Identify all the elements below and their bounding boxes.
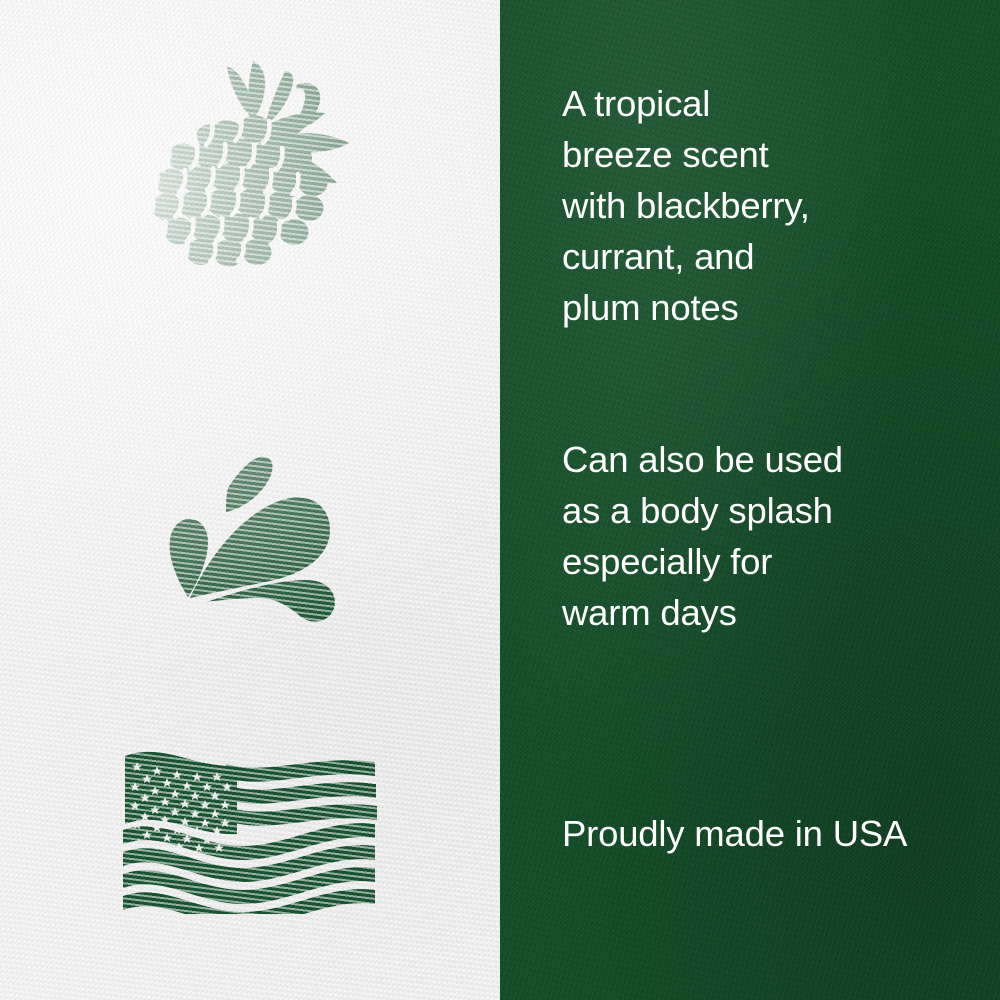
feature-text-body-splash: Can also be used as a body splash especi… (562, 434, 992, 638)
icon-panel (0, 0, 500, 1000)
usa-flag-icon-slot (0, 735, 500, 920)
usa-flag-icon (119, 742, 381, 914)
text-panel: A tropical breeze scent with blackberry,… (500, 0, 1000, 1000)
product-feature-banner: A tropical breeze scent with blackberry,… (0, 0, 1000, 1000)
splash-icon (150, 430, 350, 630)
feature-text-scent: A tropical breeze scent with blackberry,… (562, 78, 992, 333)
blackberry-icon-slot (0, 48, 500, 288)
feature-text-made-in-usa: Proudly made in USA (562, 808, 992, 859)
splash-icon-slot (0, 420, 500, 640)
blackberry-icon (135, 53, 365, 283)
